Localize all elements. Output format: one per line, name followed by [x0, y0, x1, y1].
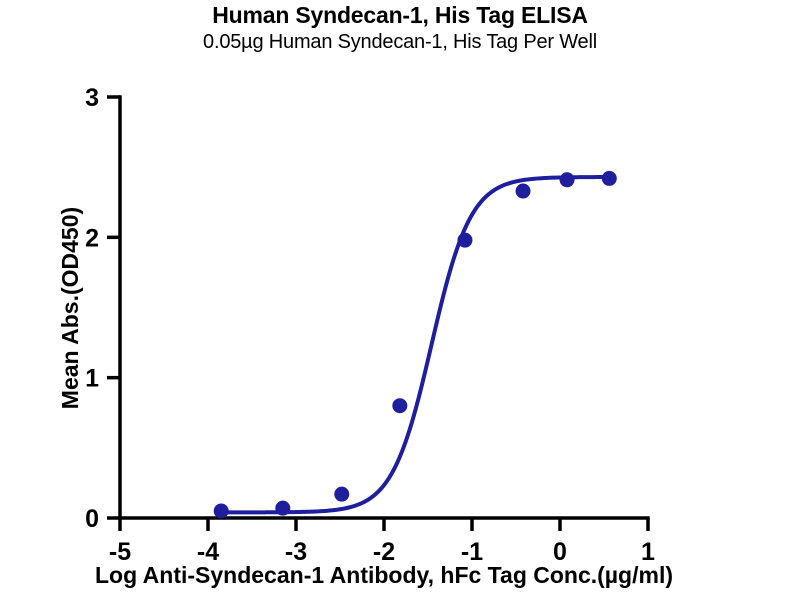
series-markers [214, 171, 617, 519]
x-axis-title: Log Anti-Syndecan-1 Antibody, hFc Tag Co… [95, 562, 673, 588]
y-tick-label-2: 2 [85, 224, 99, 252]
data-point [602, 171, 617, 186]
data-point [214, 503, 229, 518]
y-axis-title: Mean Abs.(OD450) [57, 207, 83, 409]
chart-plot-area: -5-4-3-2-101 0123 Log Anti-Syndecan-1 An… [0, 0, 800, 600]
y-tick-label-3: 3 [85, 84, 99, 112]
data-series-group [214, 171, 617, 519]
y-axis-tick-labels: 0123 [85, 84, 99, 533]
series-fit-curve [221, 177, 609, 512]
chart-page: Human Syndecan-1, His Tag ELISA 0.05µg H… [0, 0, 800, 600]
y-axis-ticks [107, 97, 120, 518]
y-tick-label-1: 1 [85, 365, 99, 393]
axes-group [120, 97, 648, 518]
data-point [560, 172, 575, 187]
data-point [392, 398, 407, 413]
data-point [334, 487, 349, 502]
data-point [457, 233, 472, 248]
x-axis-ticks [120, 518, 648, 531]
y-tick-label-0: 0 [85, 505, 99, 533]
data-point [516, 184, 531, 199]
data-point [275, 501, 290, 516]
